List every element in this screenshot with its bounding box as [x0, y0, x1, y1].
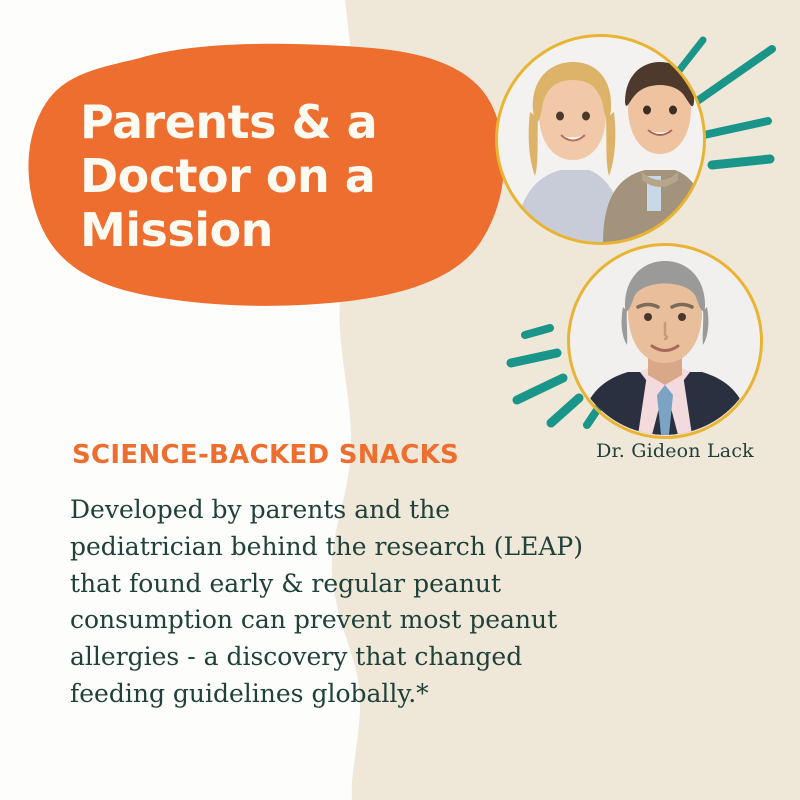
body-paragraph: Developed by parents and the pediatricia… — [70, 492, 670, 713]
headline-blob: Parents & a Doctor on a Mission — [0, 0, 520, 340]
photo-couple-illustration — [497, 36, 704, 243]
photo-doctor-illustration — [570, 245, 760, 435]
promo-poster: Parents & a Doctor on a Mission — [0, 0, 800, 800]
photo-doctor — [570, 245, 760, 435]
page-title: Parents & a Doctor on a Mission — [80, 96, 480, 257]
photo-couple — [497, 36, 704, 243]
section-eyebrow-heading: SCIENCE-BACKED SNACKS — [72, 440, 459, 470]
photo-doctor-caption: Dr. Gideon Lack — [560, 440, 790, 462]
